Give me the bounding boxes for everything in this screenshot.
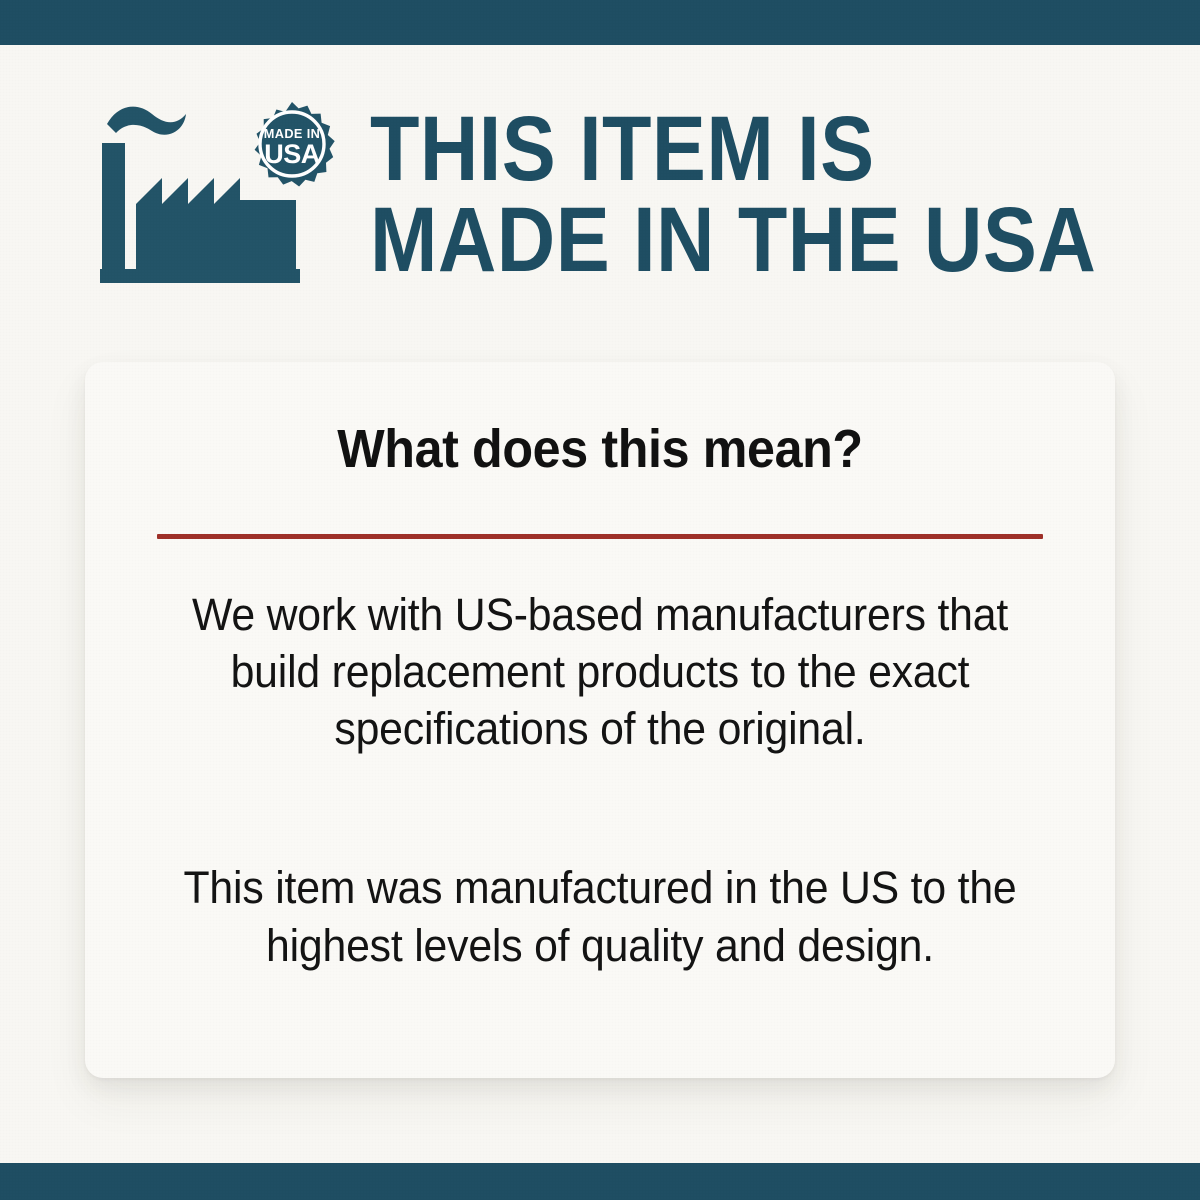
card-paragraph-2: This item was manufactured in the US to … xyxy=(151,859,1050,973)
top-accent-bar xyxy=(0,0,1200,45)
headline-line-2: MADE IN THE USA xyxy=(370,195,1096,286)
page-headline: THIS ITEM IS MADE IN THE USA xyxy=(370,104,1096,286)
headline-line-1: THIS ITEM IS xyxy=(370,98,875,200)
factory-icon: MADE IN USA xyxy=(100,100,340,285)
bottom-accent-bar xyxy=(0,1163,1200,1200)
header: MADE IN USA THIS ITEM IS MADE IN THE USA xyxy=(0,45,1200,345)
card-body: We work with US-based manufacturers that… xyxy=(127,586,1073,974)
card-divider xyxy=(157,534,1043,539)
svg-text:USA: USA xyxy=(264,139,320,169)
card-title: What does this mean? xyxy=(121,418,1079,480)
card-paragraph-1: We work with US-based manufacturers that… xyxy=(151,586,1050,757)
info-card: What does this mean? We work with US-bas… xyxy=(85,362,1115,1078)
